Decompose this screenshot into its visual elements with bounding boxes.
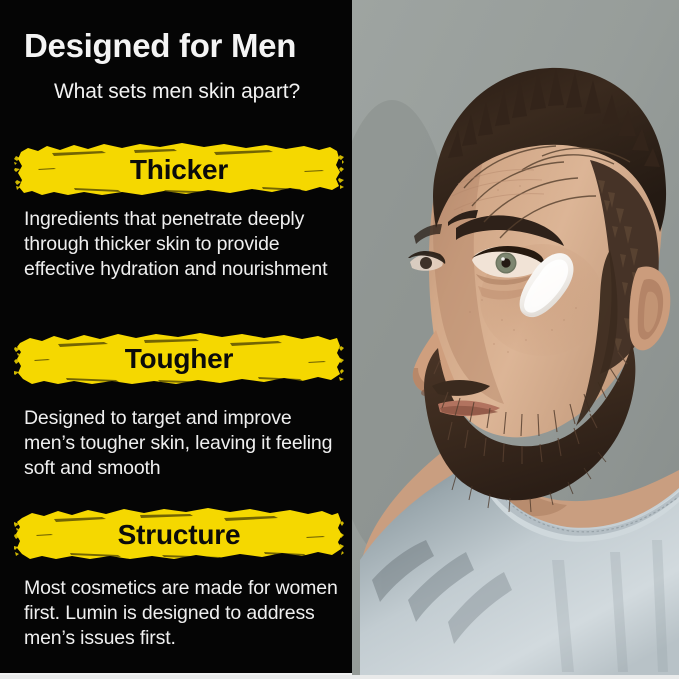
section-banner-thicker: Thicker — [14, 138, 344, 200]
product-model-photo — [352, 0, 679, 675]
section-banner-label: Tougher — [14, 327, 344, 389]
section-banner-label: Structure — [14, 503, 344, 565]
bottom-border — [0, 675, 679, 679]
section-body-tougher: Designed to target and improve men’s tou… — [24, 406, 342, 481]
model-illustration — [352, 0, 679, 675]
page-subtitle: What sets men skin apart? — [12, 80, 342, 104]
section-banner-label: Thicker — [14, 138, 344, 200]
page-title: Designed for Men — [24, 28, 336, 64]
section-banner-tougher: Tougher — [14, 327, 344, 389]
section-banner-structure: Structure — [14, 503, 344, 565]
advertisement-graphic: Designed for Men What sets men skin apar… — [0, 0, 679, 679]
section-body-thicker: Ingredients that penetrate deeply throug… — [24, 207, 342, 282]
section-body-structure: Most cosmetics are made for women first.… — [24, 576, 342, 651]
info-panel: Designed for Men What sets men skin apar… — [0, 0, 352, 675]
